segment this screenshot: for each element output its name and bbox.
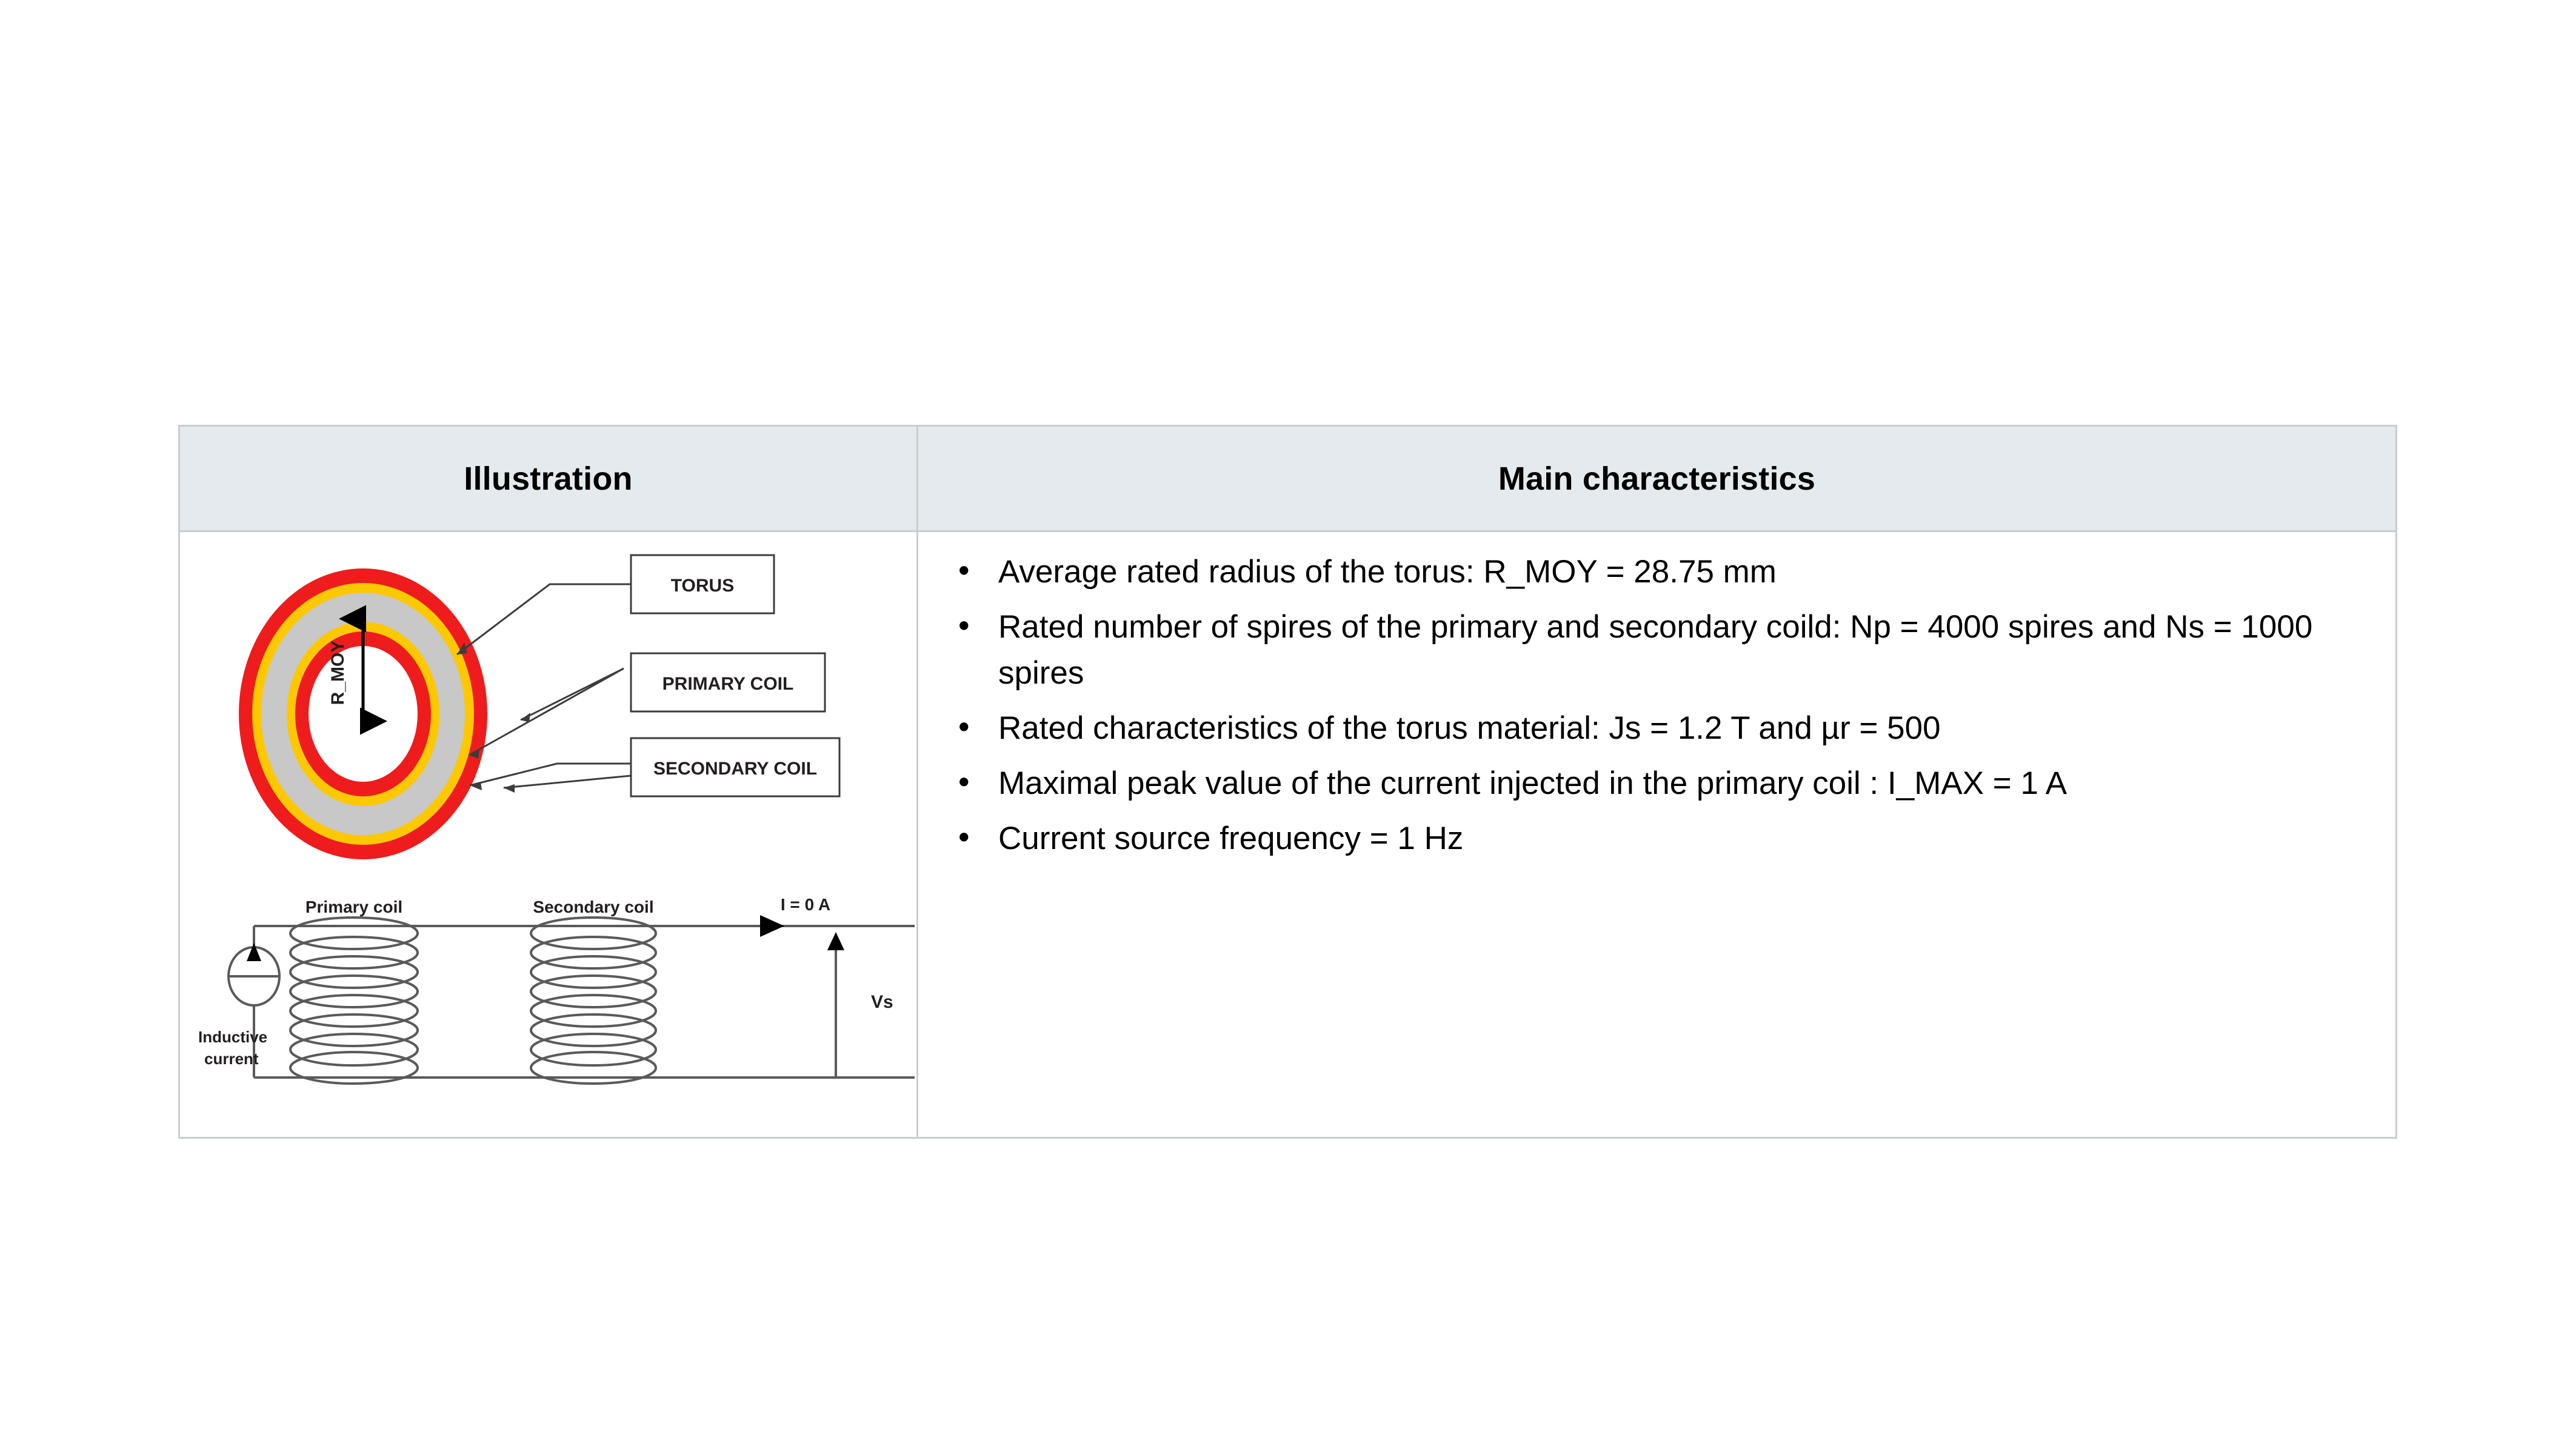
- callout-torus: TORUS: [457, 555, 774, 655]
- callout-torus-label: TORUS: [671, 576, 734, 596]
- illustration-figure: R_MOY TORUS PRIMARY COIL: [180, 532, 918, 1137]
- secondary-coil-label: Secondary coil: [533, 898, 653, 916]
- output-current-label: I = 0 A: [781, 895, 830, 914]
- output-current-indicator: I = 0 A: [760, 895, 830, 937]
- characteristics-list: Average rated radius of the torus: R_MOY…: [943, 549, 2384, 871]
- torus-cross-section-diagram: R_MOY TORUS PRIMARY COIL: [193, 538, 909, 884]
- list-item: Maximal peak value of the current inject…: [943, 761, 2384, 806]
- list-item: Current source frequency = 1 Hz: [943, 816, 2384, 861]
- header-cell-illustration: Illustration: [180, 427, 918, 530]
- specification-table: Illustration Main characteristics: [178, 425, 2397, 1139]
- callout-secondary-coil: SECONDARY COIL: [470, 738, 839, 796]
- secondary-voltage-label: Vs: [871, 992, 893, 1012]
- callout-primary-coil-label: PRIMARY COIL: [662, 674, 794, 694]
- primary-coil-winding: [290, 918, 418, 1084]
- callout-secondary-coil-label: SECONDARY COIL: [653, 759, 817, 779]
- header-cell-characteristics: Main characteristics: [918, 427, 2395, 530]
- list-item: Rated characteristics of the torus mater…: [943, 705, 2384, 751]
- list-item: Average rated radius of the torus: R_MOY…: [943, 549, 2384, 595]
- column-header-illustration: Illustration: [464, 460, 632, 498]
- column-header-main-characteristics: Main characteristics: [1498, 460, 1815, 498]
- r-moy-label: R_MOY: [328, 641, 348, 705]
- cell-illustration: R_MOY TORUS PRIMARY COIL: [180, 532, 918, 1137]
- primary-coil-label: Primary coil: [305, 898, 402, 916]
- list-item: Rated number of spires of the primary an…: [943, 604, 2384, 696]
- inductive-current-label-line2: current: [204, 1050, 259, 1068]
- table-body-row: R_MOY TORUS PRIMARY COIL: [180, 532, 2395, 1137]
- coil-circuit-diagram: Inductive current Primary coil: [193, 890, 918, 1096]
- table-header-row: Illustration Main characteristics: [180, 427, 2395, 532]
- secondary-voltage-indicator: Vs: [827, 932, 893, 1078]
- inductive-current-source: [229, 943, 279, 1005]
- secondary-coil-winding: [531, 918, 656, 1084]
- inductive-current-label-line1: Inductive: [198, 1028, 267, 1046]
- cell-main-characteristics: Average rated radius of the torus: R_MOY…: [918, 532, 2395, 1137]
